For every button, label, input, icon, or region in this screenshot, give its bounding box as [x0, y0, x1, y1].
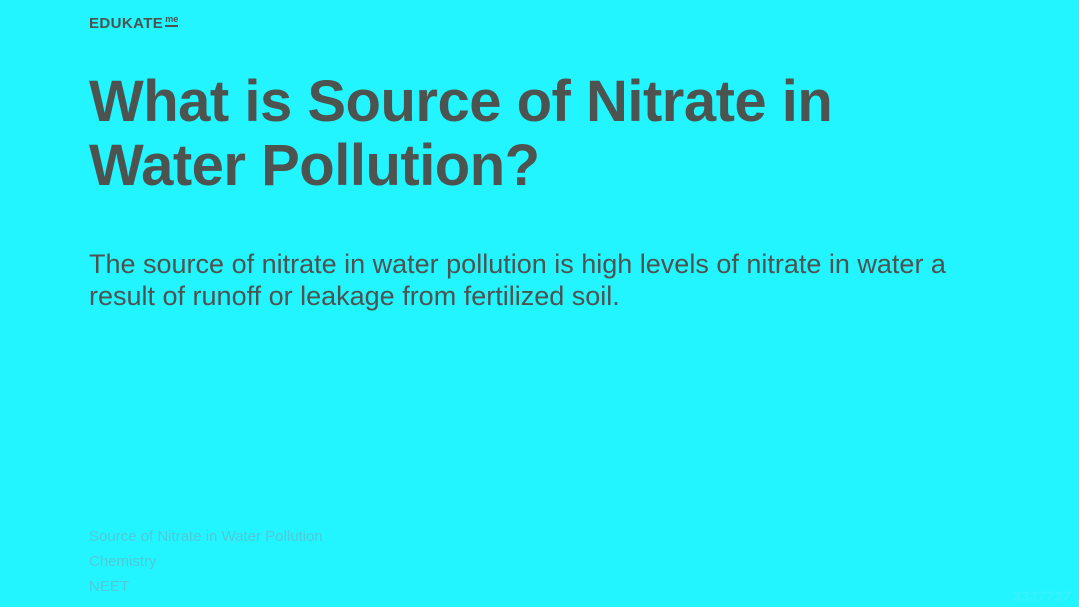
watermark-text: 3337737 [1013, 588, 1071, 604]
slide-footer: Source of Nitrate in Water Pollution Che… [89, 524, 323, 599]
footer-line-exam: NEET [89, 574, 323, 599]
footer-line-subject: Chemistry [89, 549, 323, 574]
logo-wordmark: EDUKATE [89, 16, 163, 31]
slide-canvas: EDUKATE me What is Source of Nitrate in … [0, 0, 1079, 607]
footer-line-topic: Source of Nitrate in Water Pollution [89, 524, 323, 549]
slide-body-text: The source of nitrate in water pollution… [89, 248, 999, 313]
slide-title: What is Source of Nitrate in Water Pollu… [89, 70, 989, 198]
logo-superscript: me [165, 15, 178, 27]
edukate-logo[interactable]: EDUKATE me [89, 16, 178, 31]
